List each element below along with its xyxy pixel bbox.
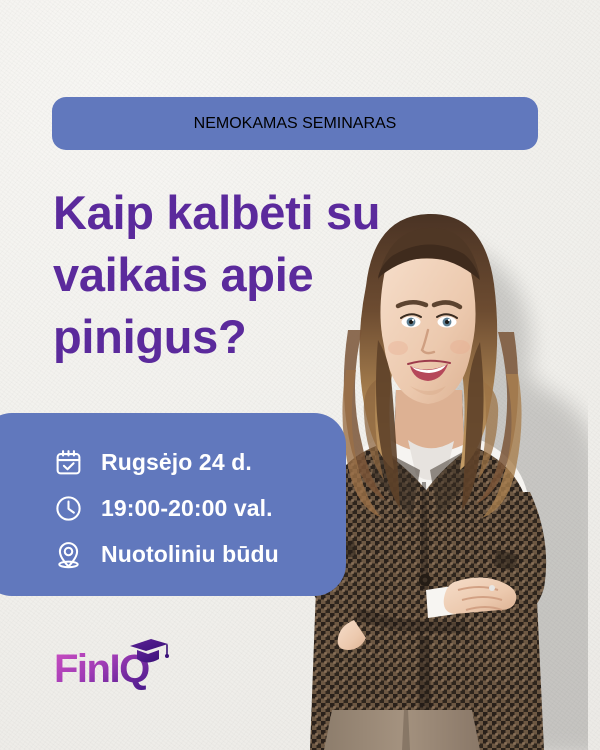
headline-line-2: vaikais apie xyxy=(53,244,453,306)
event-time-text: 19:00-20:00 val. xyxy=(101,495,273,522)
page-title: Kaip kalbėti su vaikais apie pinigus? xyxy=(53,182,453,368)
event-location-row: Nuotoliniu būdu xyxy=(0,531,346,577)
event-date-row: Rugsėjo 24 d. xyxy=(0,439,346,485)
event-details-card: Rugsėjo 24 d. 19:00-20:00 val. Nuotolini… xyxy=(0,413,346,596)
badge-label: NEMOKAMAS SEMINARAS xyxy=(194,115,397,133)
headline-line-3: pinigus? xyxy=(53,306,453,368)
free-seminar-badge: NEMOKAMAS SEMINARAS xyxy=(52,97,538,150)
calendar-check-icon xyxy=(54,448,83,477)
location-pin-icon xyxy=(54,540,83,569)
headline-line-1: Kaip kalbėti su xyxy=(53,182,453,244)
svg-text:FinIQ: FinIQ xyxy=(54,647,149,691)
event-time-row: 19:00-20:00 val. xyxy=(0,485,346,531)
event-date-text: Rugsėjo 24 d. xyxy=(101,449,252,476)
clock-icon xyxy=(54,494,83,523)
seminar-poster: NEMOKAMAS SEMINARAS Kaip kalbėti su vaik… xyxy=(0,0,600,750)
finiq-logo: FinIQ xyxy=(54,638,172,694)
event-location-text: Nuotoliniu būdu xyxy=(101,541,279,568)
